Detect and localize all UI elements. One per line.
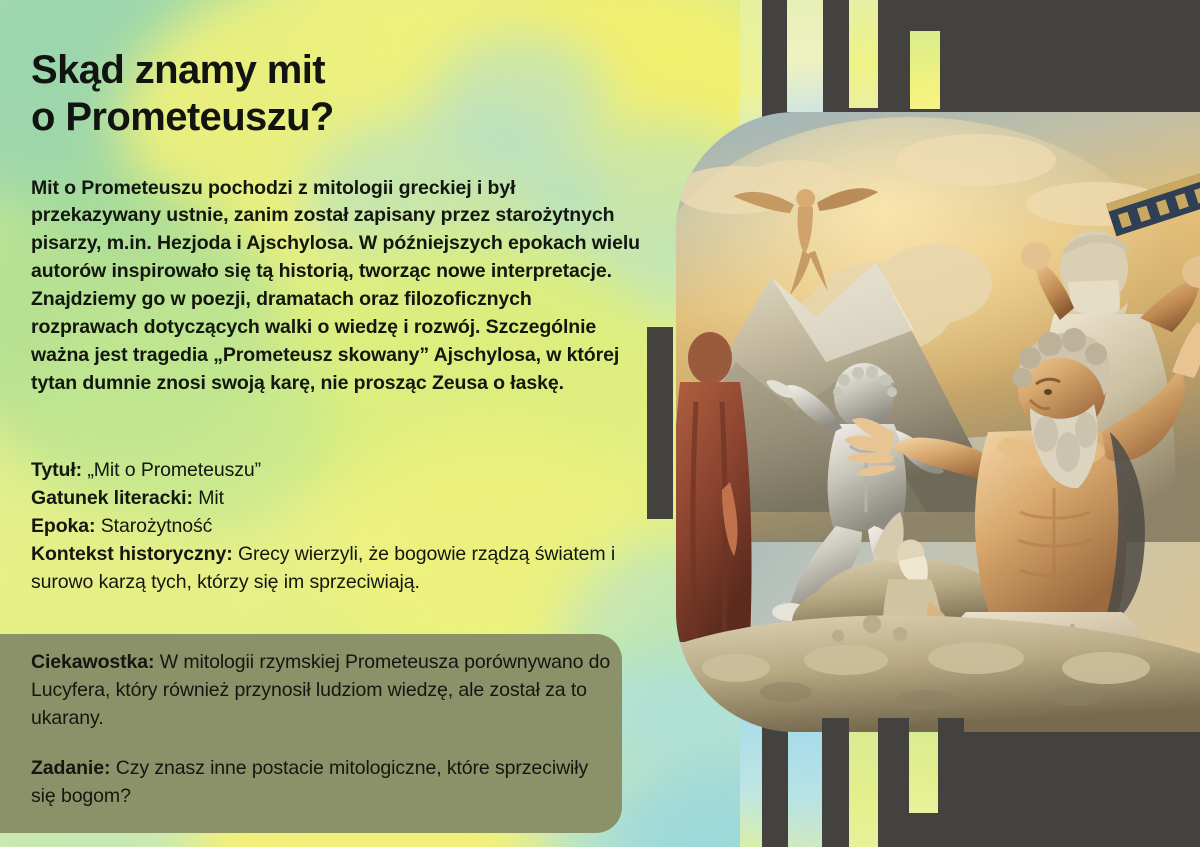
panel-gap <box>788 718 822 847</box>
callout-text: Ciekawostka: W mitologii rzymskiej Prome… <box>31 648 616 810</box>
body-paragraph: Mit o Prometeuszu pochodzi z mitologii g… <box>31 175 641 399</box>
meta-row-genre: Gatunek literacki: Mit <box>31 484 641 512</box>
meta-row-epoch: Epoka: Starożytność <box>31 512 641 540</box>
bar-bottom-3 <box>878 718 909 847</box>
title-line-1: Skąd znamy mit <box>31 48 325 92</box>
panel-gap <box>740 713 762 847</box>
prometheus-illustration <box>676 112 1200 732</box>
bar-bottom-4 <box>938 718 964 813</box>
bar-top-3 <box>878 0 910 108</box>
meta-row-title: Tytuł: „Mit o Prometeuszu” <box>31 456 641 484</box>
title-line-2: o Prometeuszu? <box>31 95 334 139</box>
meta-value-genre: Mit <box>198 487 224 509</box>
callout-label-fact: Ciekawostka: <box>31 651 154 673</box>
panel-gap <box>910 31 940 109</box>
callout-spacer <box>31 732 616 754</box>
callout-task: Zadanie: Czy znasz inne postacie mitolog… <box>31 754 616 810</box>
text-column: Skąd znamy mit o Prometeuszu? Mit o Prom… <box>0 0 660 847</box>
meta-value-title: „Mit o Prometeuszu” <box>87 459 261 481</box>
callout-label-task: Zadanie: <box>31 757 110 779</box>
panel-gap <box>849 0 878 108</box>
poster-canvas: Skąd znamy mit o Prometeuszu? Mit o Prom… <box>0 0 1200 847</box>
page-title: Skąd znamy mit o Prometeuszu? <box>31 47 631 141</box>
meta-label-context: Kontekst historyczny: <box>31 543 233 565</box>
bar-bottom-2 <box>822 718 849 847</box>
meta-label-genre: Gatunek literacki: <box>31 487 193 509</box>
bar-top-4 <box>940 31 966 109</box>
bar-top-2 <box>823 0 849 112</box>
meta-row-context: Kontekst historyczny: Grecy wierzyli, że… <box>31 543 615 593</box>
callout-fact: Ciekawostka: W mitologii rzymskiej Prome… <box>31 648 616 732</box>
panel-gap <box>909 718 938 813</box>
panel-gap <box>787 0 823 112</box>
meta-label-title: Tytuł: <box>31 459 82 481</box>
metadata-list: Tytuł: „Mit o Prometeuszu” Gatunek liter… <box>31 456 641 596</box>
panel-gap <box>849 718 878 847</box>
meta-value-epoch: Starożytność <box>101 515 213 537</box>
meta-label-epoch: Epoka: <box>31 515 95 537</box>
callout-value-task: Czy znasz inne postacie mitologiczne, kt… <box>31 757 588 807</box>
